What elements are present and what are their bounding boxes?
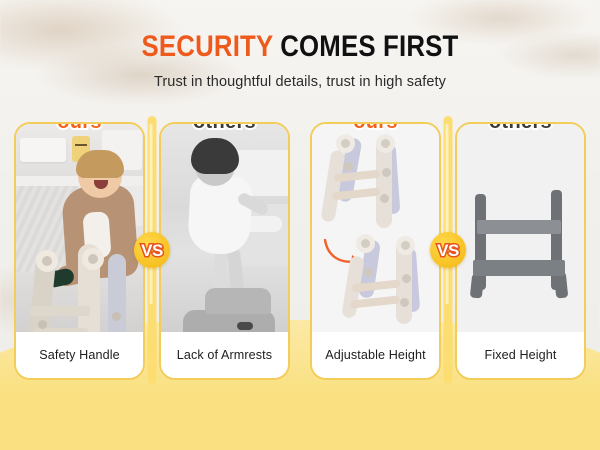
kitchen-white-box <box>20 138 66 162</box>
ladder-stool-short <box>340 232 436 332</box>
ladder-knob <box>380 194 389 203</box>
stool-knob <box>38 320 47 329</box>
comparison-card-lack-of-armrests[interactable]: others Lack of Armrests <box>159 122 290 380</box>
ours-tag: ours <box>353 122 398 132</box>
vs-label: VS <box>437 242 459 259</box>
ladder-pivot-knob <box>364 268 373 277</box>
comparison-pair-handle: ours <box>14 122 290 380</box>
card-caption: Safety Handle <box>16 332 143 378</box>
comparison-card-safety-handle[interactable]: ours <box>14 122 145 380</box>
ladder-knob <box>382 168 391 177</box>
ladder-knob <box>400 298 409 307</box>
header: SECURITY COMES FIRST Trust in thoughtful… <box>0 0 600 90</box>
girl-dress <box>187 174 253 255</box>
card-caption: Lack of Armrests <box>161 332 288 378</box>
card-caption: Adjustable Height <box>312 332 439 378</box>
wooden-stool-lower-step <box>473 260 565 276</box>
girl-hair <box>191 138 239 174</box>
wooden-stool-foot-left <box>470 273 484 298</box>
comparison-card-fixed-height[interactable]: others Fixed Height <box>455 122 586 380</box>
vs-badge: VS <box>134 232 170 268</box>
ladder-ring-left <box>336 134 355 153</box>
wooden-stool-upper-step <box>477 220 561 234</box>
ladder-ring-right <box>376 134 395 153</box>
page-title-highlight: SECURITY <box>142 30 273 63</box>
stool-grip-slot <box>237 322 253 330</box>
comparison-card-adjustable-height[interactable]: ours <box>310 122 441 380</box>
vs-label: VS <box>141 242 163 259</box>
others-tag: others <box>193 122 256 132</box>
safety-handle-ring-right <box>82 248 104 270</box>
others-tag: others <box>489 122 552 132</box>
ours-tag: ours <box>57 122 102 132</box>
comparison-section: ours <box>0 122 600 380</box>
safety-handle-photo <box>16 124 143 332</box>
card-caption: Fixed Height <box>457 332 584 378</box>
ladder-pivot-knob <box>344 162 353 171</box>
ladder-stool-tall <box>320 132 416 232</box>
ladder-knob <box>402 274 411 283</box>
vs-badge: VS <box>430 232 466 268</box>
page-title: SECURITY COMES FIRST <box>42 32 558 62</box>
safety-handle-ring-left <box>36 250 58 272</box>
lack-of-armrests-photo <box>161 124 288 332</box>
fixed-height-photo <box>457 124 584 332</box>
comparison-pair-height: ours <box>310 122 586 380</box>
ladder-ring-left <box>356 234 375 253</box>
stool-step-upper <box>30 306 90 316</box>
toddler-hair <box>76 150 124 178</box>
ladder-ring-right <box>396 236 415 255</box>
page-subtitle: Trust in thoughtful details, trust in hi… <box>0 74 600 90</box>
plain-stool-upper-step <box>205 288 271 314</box>
adjustable-height-photo <box>312 124 439 332</box>
stool-knob <box>112 312 121 321</box>
page-title-rest: COMES FIRST <box>273 30 459 63</box>
